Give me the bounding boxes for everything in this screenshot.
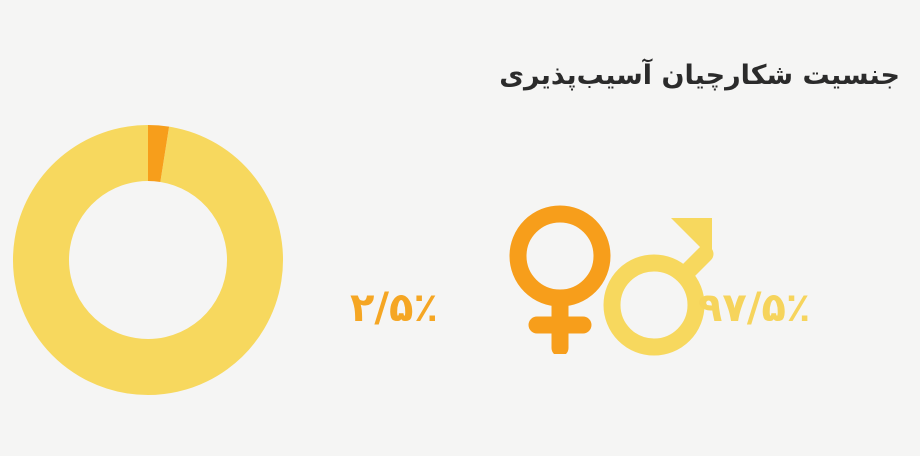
donut-chart <box>9 121 287 399</box>
male-gender-icon <box>602 204 724 356</box>
female-gender-icon <box>504 204 616 354</box>
page-title: جنسیت شکارچیان آسیب‌پذیری <box>0 58 900 94</box>
female-percentage-label: ۲/۵٪ <box>350 288 438 328</box>
legend-row: ۲/۵٪ <box>336 196 876 361</box>
male-percentage-label: ۹۷/۵٪ <box>698 288 810 328</box>
legend: ۲/۵٪ <box>336 196 876 361</box>
gender-infographic: جنسیت شکارچیان آسیب‌پذیری ۲/۵٪ <box>0 0 920 456</box>
